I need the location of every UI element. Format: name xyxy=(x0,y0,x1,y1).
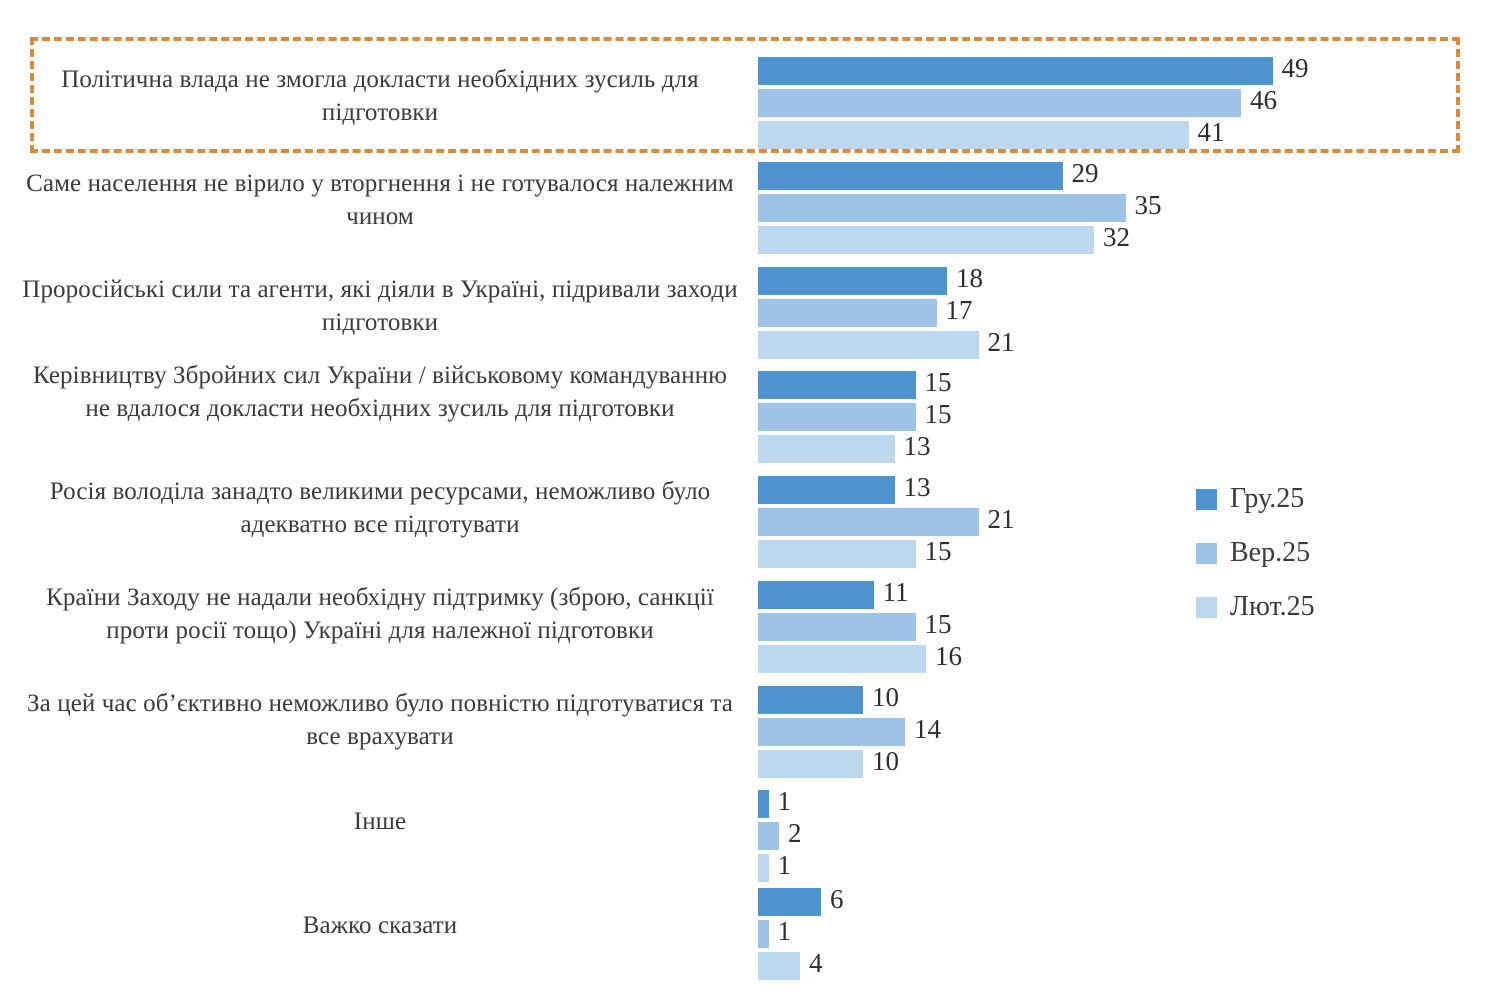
bar-line: 10 xyxy=(758,750,941,778)
category-label: Саме населення не вірило у вторгнення і … xyxy=(20,168,740,233)
bar-value-label: 32 xyxy=(1094,223,1130,251)
bar-group: 181721 xyxy=(758,267,1015,363)
bar-Лют-25-8[interactable] xyxy=(758,952,800,980)
bar-value-label: 6 xyxy=(821,885,844,913)
bar-line: 15 xyxy=(758,371,952,399)
bar-value-label: 49 xyxy=(1273,54,1309,82)
bar-Лют-25-2[interactable] xyxy=(758,331,979,359)
bar-Гру-25-4[interactable] xyxy=(758,476,895,504)
bar-group: 494641 xyxy=(758,57,1309,153)
bar-line: 18 xyxy=(758,267,1015,295)
bar-line: 49 xyxy=(758,57,1309,85)
legend-item-Лют-25[interactable]: Лют.25 xyxy=(1196,580,1315,634)
bar-Вер-25-3[interactable] xyxy=(758,403,916,431)
bar-value-label: 21 xyxy=(979,328,1015,356)
bar-value-label: 13 xyxy=(895,473,931,501)
bar-value-label: 46 xyxy=(1241,86,1277,114)
bar-Лют-25-5[interactable] xyxy=(758,645,926,673)
bar-line: 46 xyxy=(758,89,1309,117)
bar-value-label: 10 xyxy=(863,747,899,775)
legend-swatch-icon xyxy=(1196,543,1217,564)
category-label: Важко сказати xyxy=(20,910,740,943)
bar-line: 13 xyxy=(758,435,952,463)
bar-line: 1 xyxy=(758,920,844,948)
category-label: Росія володіла занадто великими ресурсам… xyxy=(20,476,740,541)
bar-line: 29 xyxy=(758,162,1162,190)
bar-group: 121 xyxy=(758,790,802,886)
bar-Вер-25-5[interactable] xyxy=(758,613,916,641)
bar-line: 17 xyxy=(758,299,1015,327)
bar-Вер-25-2[interactable] xyxy=(758,299,937,327)
bar-line: 15 xyxy=(758,403,952,431)
bar-line: 16 xyxy=(758,645,962,673)
legend-label: Вер.25 xyxy=(1230,539,1310,567)
bar-Гру-25-6[interactable] xyxy=(758,686,863,714)
bar-Вер-25-4[interactable] xyxy=(758,508,979,536)
bar-line: 15 xyxy=(758,540,1015,568)
bar-line: 4 xyxy=(758,952,844,980)
bar-value-label: 15 xyxy=(916,537,952,565)
legend-label: Гру.25 xyxy=(1230,485,1304,513)
bar-Вер-25-8[interactable] xyxy=(758,920,769,948)
bar-value-label: 2 xyxy=(779,819,802,847)
category-label: Інше xyxy=(20,806,740,839)
bar-line: 32 xyxy=(758,226,1162,254)
bar-Гру-25-2[interactable] xyxy=(758,267,947,295)
bar-line: 15 xyxy=(758,613,962,641)
legend-item-Вер-25[interactable]: Вер.25 xyxy=(1196,526,1315,580)
bar-value-label: 4 xyxy=(800,949,823,977)
legend-swatch-icon xyxy=(1196,597,1217,618)
bar-line: 41 xyxy=(758,121,1309,149)
legend-swatch-icon xyxy=(1196,489,1217,510)
bar-line: 11 xyxy=(758,581,962,609)
bar-Гру-25-0[interactable] xyxy=(758,57,1273,85)
bar-value-label: 35 xyxy=(1126,191,1162,219)
bar-Лют-25-3[interactable] xyxy=(758,435,895,463)
bar-group: 132115 xyxy=(758,476,1015,572)
bar-Вер-25-1[interactable] xyxy=(758,194,1126,222)
bar-value-label: 15 xyxy=(916,610,952,638)
bar-line: 1 xyxy=(758,790,802,818)
bar-group: 151513 xyxy=(758,371,952,467)
bar-value-label: 1 xyxy=(769,787,792,815)
bar-value-label: 11 xyxy=(874,578,909,606)
bar-group: 293532 xyxy=(758,162,1162,258)
bar-Вер-25-0[interactable] xyxy=(758,89,1241,117)
bar-value-label: 21 xyxy=(979,505,1015,533)
bar-value-label: 13 xyxy=(895,432,931,460)
bar-Гру-25-5[interactable] xyxy=(758,581,874,609)
bar-Лют-25-4[interactable] xyxy=(758,540,916,568)
bar-value-label: 41 xyxy=(1189,118,1225,146)
bar-Лют-25-6[interactable] xyxy=(758,750,863,778)
bar-line: 1 xyxy=(758,854,802,882)
bar-Вер-25-7[interactable] xyxy=(758,822,779,850)
bar-value-label: 1 xyxy=(769,851,792,879)
bar-line: 10 xyxy=(758,686,941,714)
bar-value-label: 18 xyxy=(947,264,983,292)
bar-line: 14 xyxy=(758,718,941,746)
bar-value-label: 17 xyxy=(937,296,973,324)
bar-group: 101410 xyxy=(758,686,941,782)
bar-line: 6 xyxy=(758,888,844,916)
bar-line: 13 xyxy=(758,476,1015,504)
legend-item-Гру-25[interactable]: Гру.25 xyxy=(1196,472,1315,526)
bar-line: 2 xyxy=(758,822,802,850)
category-label: Керівництву Збройних сил України / війсь… xyxy=(20,360,740,425)
category-label: Політична влада не змогла докласти необх… xyxy=(20,64,740,129)
chart-legend: Гру.25Вер.25Лют.25 xyxy=(1196,472,1315,634)
bar-line: 35 xyxy=(758,194,1162,222)
bar-group: 111516 xyxy=(758,581,962,677)
bar-Гру-25-3[interactable] xyxy=(758,371,916,399)
bar-Гру-25-7[interactable] xyxy=(758,790,769,818)
bar-Лют-25-1[interactable] xyxy=(758,226,1094,254)
bar-value-label: 15 xyxy=(916,400,952,428)
bar-value-label: 29 xyxy=(1063,159,1099,187)
bar-Лют-25-7[interactable] xyxy=(758,854,769,882)
bar-value-label: 10 xyxy=(863,683,899,711)
category-label: За цей час об’єктивно неможливо було пов… xyxy=(20,688,740,753)
bar-value-label: 16 xyxy=(926,642,962,670)
bar-line: 21 xyxy=(758,331,1015,359)
bar-value-label: 1 xyxy=(769,917,792,945)
category-label: Країни Заходу не надали необхідну підтри… xyxy=(20,582,740,647)
bar-group: 614 xyxy=(758,888,844,984)
bar-value-label: 14 xyxy=(905,715,941,743)
bar-Вер-25-6[interactable] xyxy=(758,718,905,746)
category-label: Проросійські сили та агенти, які діяли в… xyxy=(20,274,740,339)
bar-Гру-25-8[interactable] xyxy=(758,888,821,916)
bar-line: 21 xyxy=(758,508,1015,536)
bar-value-label: 15 xyxy=(916,368,952,396)
bar-chart: Політична влада не змогла докласти необх… xyxy=(0,0,1500,995)
legend-label: Лют.25 xyxy=(1230,593,1315,621)
bar-Гру-25-1[interactable] xyxy=(758,162,1063,190)
bar-Лют-25-0[interactable] xyxy=(758,121,1189,149)
